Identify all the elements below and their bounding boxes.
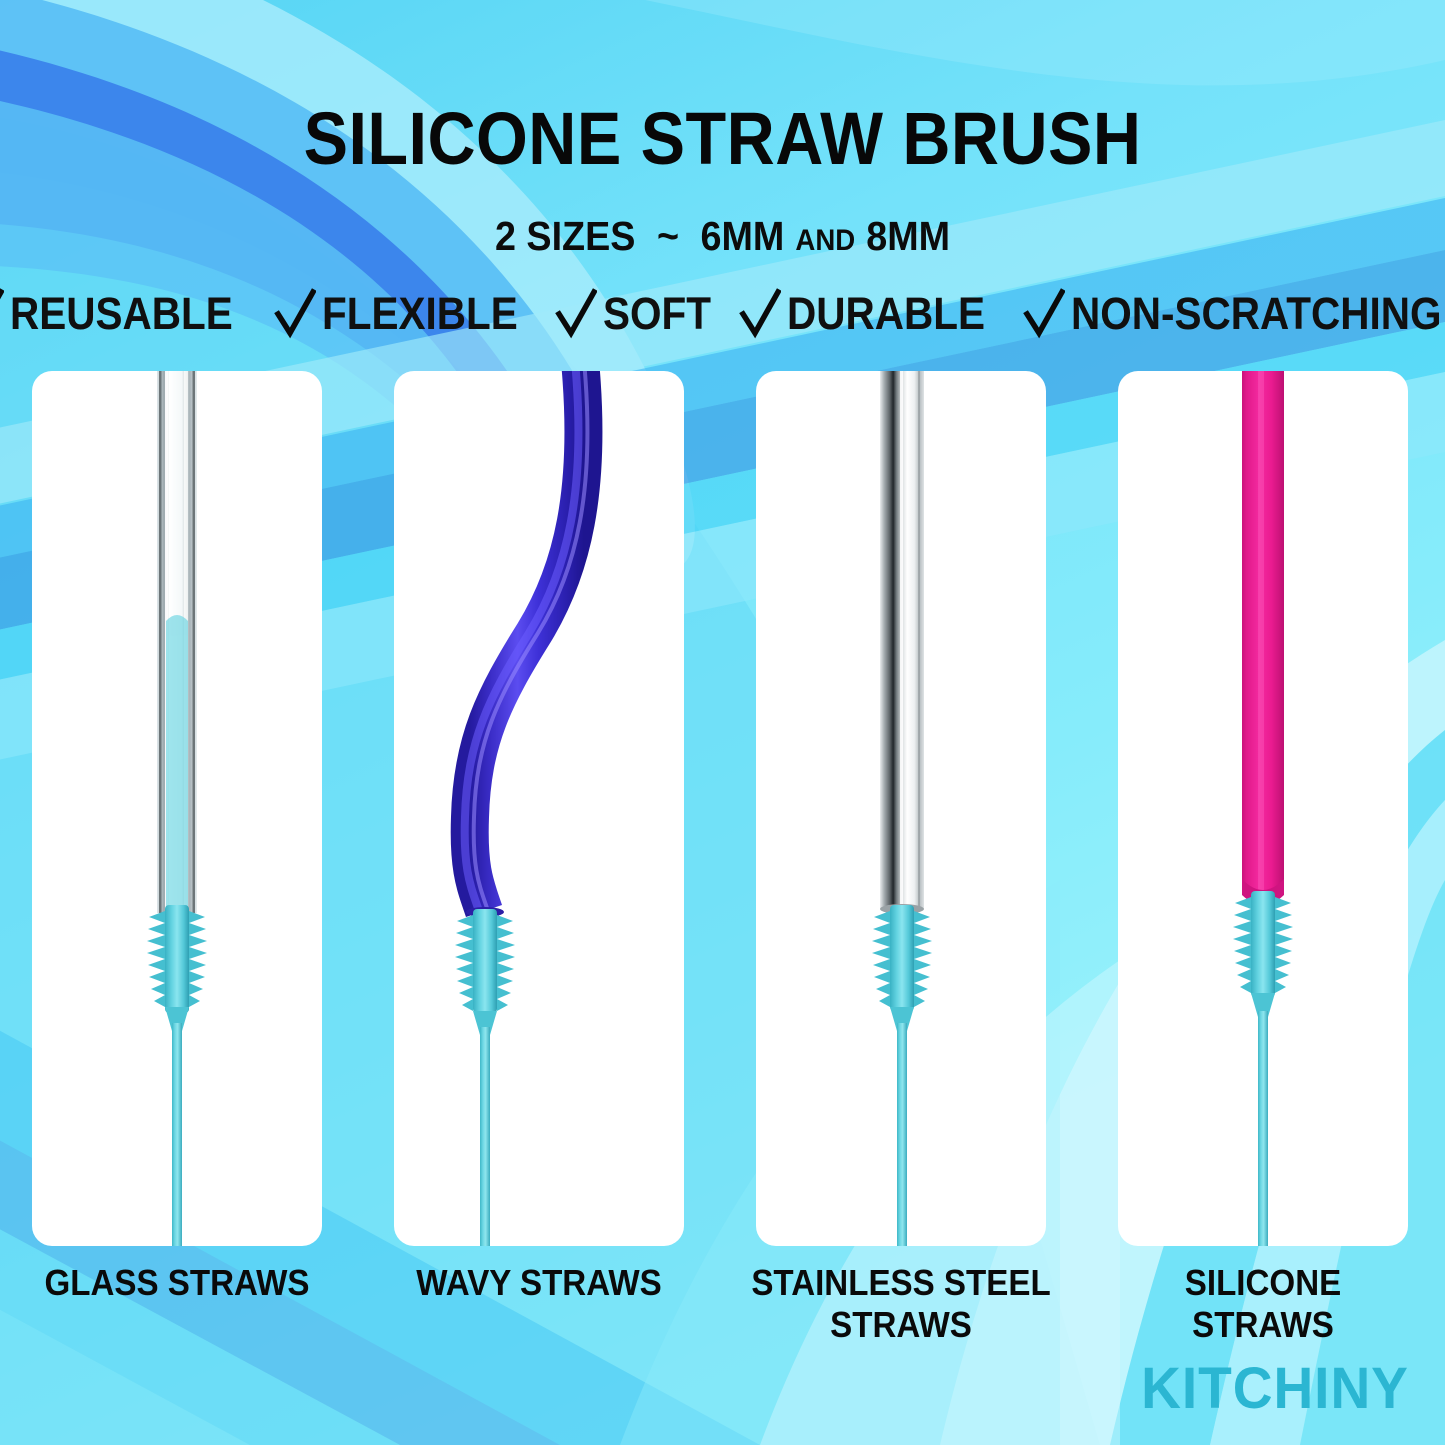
- subtitle-tilde: ~: [657, 213, 679, 259]
- brush-head: [147, 905, 207, 1031]
- check-icon: [0, 288, 4, 340]
- caption-silicone-straws: SILICONE STRAWS: [1111, 1262, 1415, 1346]
- check-icon: [555, 288, 597, 340]
- feature-durable: DURABLE: [739, 288, 1007, 340]
- feature-label: REUSABLE: [10, 288, 233, 340]
- glass-straw-illustration: [32, 371, 322, 1246]
- caption-wavy-straws: WAVY STRAWS: [387, 1262, 691, 1304]
- caption-stainless-steel-straws: STAINLESS STEEL STRAWS: [749, 1262, 1053, 1346]
- subtitle-size-2: 8MM: [866, 213, 950, 259]
- panel-wavy-straws: [394, 371, 684, 1246]
- brush-head: [872, 905, 932, 1031]
- feature-soft: SOFT: [555, 288, 723, 340]
- subtitle: 2 SIZES ~ 6MMAND8MM: [58, 213, 1387, 260]
- feature-reusable: REUSABLE: [0, 288, 258, 340]
- product-image: SILICONE STRAW BRUSH 2 SIZES ~ 6MMAND8MM…: [0, 0, 1445, 1445]
- silicone-straw-illustration: [1118, 371, 1408, 1246]
- feature-label: SOFT: [603, 288, 711, 340]
- panel-silicone-straws: [1118, 371, 1408, 1246]
- feature-list: REUSABLE FLEXIBLE SOFT: [0, 288, 1445, 340]
- check-icon: [274, 288, 316, 340]
- feature-flexible: FLEXIBLE: [274, 288, 540, 340]
- brush-head: [455, 909, 515, 1035]
- check-icon: [1023, 288, 1065, 340]
- subtitle-size-1: 6MM: [701, 213, 785, 259]
- feature-non-scratching: NON-SCRATCHING: [1023, 288, 1445, 340]
- wavy-straw-illustration: [394, 371, 684, 1246]
- brush-head: [1233, 891, 1293, 1017]
- caption-glass-straws: GLASS STRAWS: [25, 1262, 329, 1304]
- feature-label: NON-SCRATCHING: [1071, 288, 1441, 340]
- subtitle-prefix: 2 SIZES: [495, 213, 635, 259]
- check-icon: [739, 288, 781, 340]
- steel-straw-illustration: [756, 371, 1046, 1246]
- brand-logo: KITCHINY: [1141, 1355, 1409, 1422]
- panel-stainless-steel-straws: [756, 371, 1046, 1246]
- panel-glass-straws: [32, 371, 322, 1246]
- feature-label: FLEXIBLE: [322, 288, 518, 340]
- page-title: SILICONE STRAW BRUSH: [72, 96, 1373, 181]
- feature-label: DURABLE: [787, 288, 985, 340]
- subtitle-conjunction: AND: [795, 224, 855, 257]
